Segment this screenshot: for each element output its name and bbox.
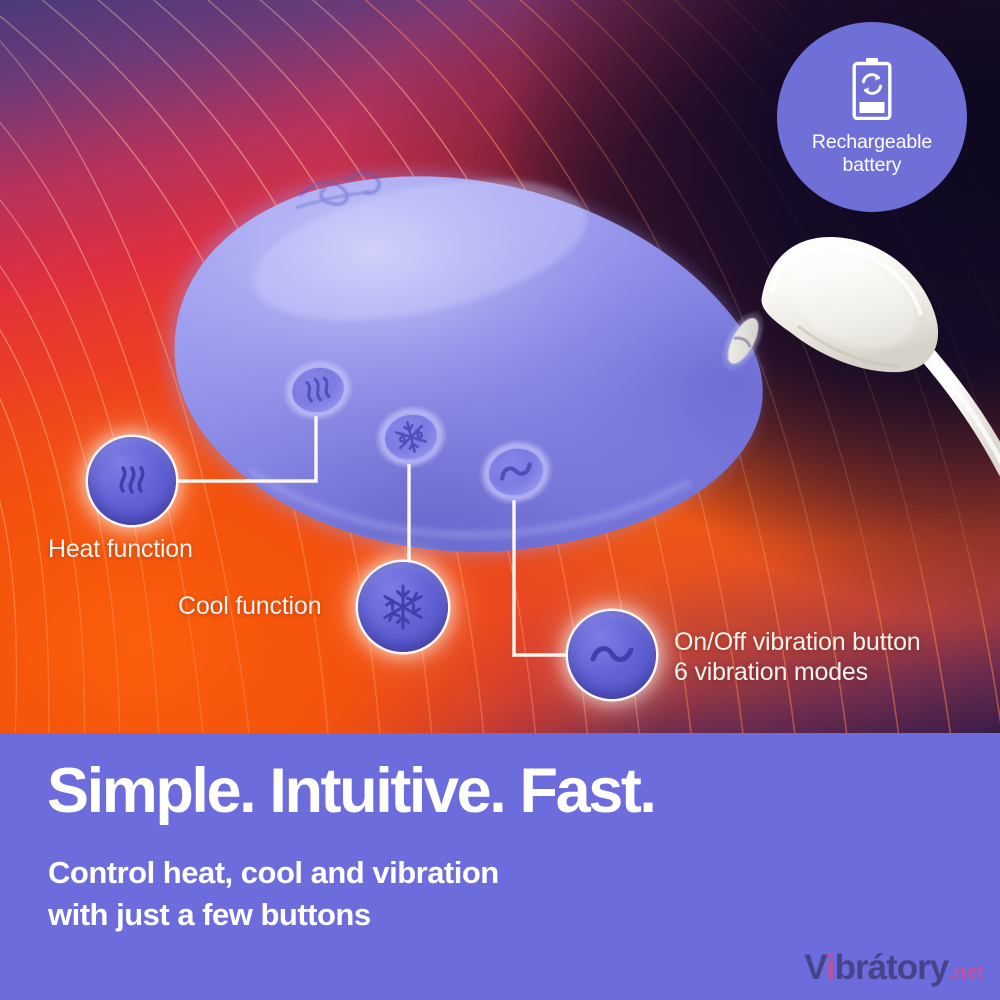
subheadline: Control heat, cool and vibration with ju… bbox=[48, 852, 499, 935]
subheadline-line2: with just a few buttons bbox=[48, 894, 499, 936]
watermark: Vibrátory.net bbox=[804, 948, 984, 988]
subheadline-line1: Control heat, cool and vibration bbox=[48, 852, 499, 894]
callout-vibration bbox=[568, 611, 656, 699]
label-vibration-line1: On/Off vibration button bbox=[674, 628, 920, 658]
heat-waves-icon bbox=[108, 457, 156, 505]
label-vibration-line2: 6 vibration modes bbox=[674, 658, 920, 688]
callout-cool bbox=[358, 562, 448, 652]
watermark-middle: brátory bbox=[835, 948, 949, 987]
watermark-tld: .net bbox=[948, 961, 984, 984]
label-vibration: On/Off vibration button 6 vibration mode… bbox=[674, 628, 920, 687]
bottom-text-panel: Simple. Intuitive. Fast. Control heat, c… bbox=[0, 733, 1000, 1000]
label-heat-function: Heat function bbox=[48, 535, 193, 565]
rechargeable-battery-icon bbox=[851, 58, 893, 120]
callout-heat bbox=[88, 437, 176, 525]
headline: Simple. Intuitive. Fast. bbox=[47, 760, 655, 823]
watermark-prefix: V bbox=[804, 948, 826, 987]
wave-icon bbox=[586, 629, 638, 681]
connector-vibration bbox=[514, 502, 568, 655]
infographic-canvas: Rechargeable battery bbox=[0, 0, 1000, 1000]
rechargeable-battery-badge: Rechargeable battery bbox=[777, 22, 967, 212]
label-cool-function: Cool function bbox=[178, 592, 321, 622]
snowflake-icon bbox=[377, 581, 429, 633]
watermark-accent: i bbox=[826, 948, 835, 987]
badge-label: Rechargeable battery bbox=[812, 131, 932, 177]
connector-heat bbox=[176, 418, 316, 481]
